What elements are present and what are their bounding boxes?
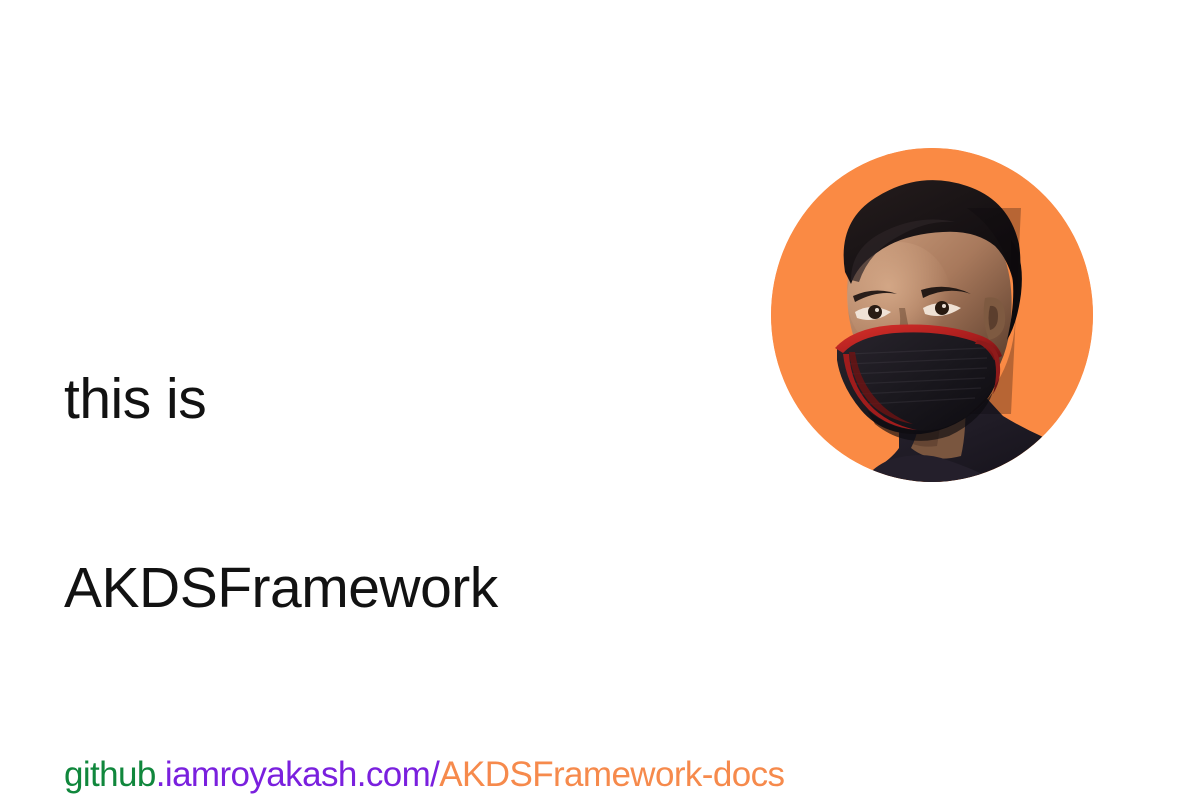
url-host-secondary: .iamroyakash.com: [156, 755, 430, 794]
page-title: this is AKDSFramework: [64, 242, 764, 746]
headline-line-1: this is: [64, 368, 764, 431]
url-host-primary: github: [64, 755, 156, 794]
eye-left-iris: [868, 305, 882, 319]
project-url[interactable]: github.iamroyakash.com/AKDSFramework-doc…: [64, 755, 764, 795]
url-separator: /: [430, 755, 439, 794]
eye-right-iris: [935, 301, 949, 315]
url-path: AKDSFramework-docs: [439, 755, 784, 794]
headline-line-2: AKDSFramework: [64, 557, 764, 620]
social-preview-card: this is AKDSFramework github.iamroyakash…: [0, 0, 1200, 630]
text-block: this is AKDSFramework github.iamroyakash…: [64, 242, 764, 795]
avatar: [771, 148, 1093, 482]
avatar-portrait-illustration: [771, 148, 1093, 482]
eye-left-glint: [875, 308, 879, 312]
eye-right-glint: [942, 304, 946, 308]
